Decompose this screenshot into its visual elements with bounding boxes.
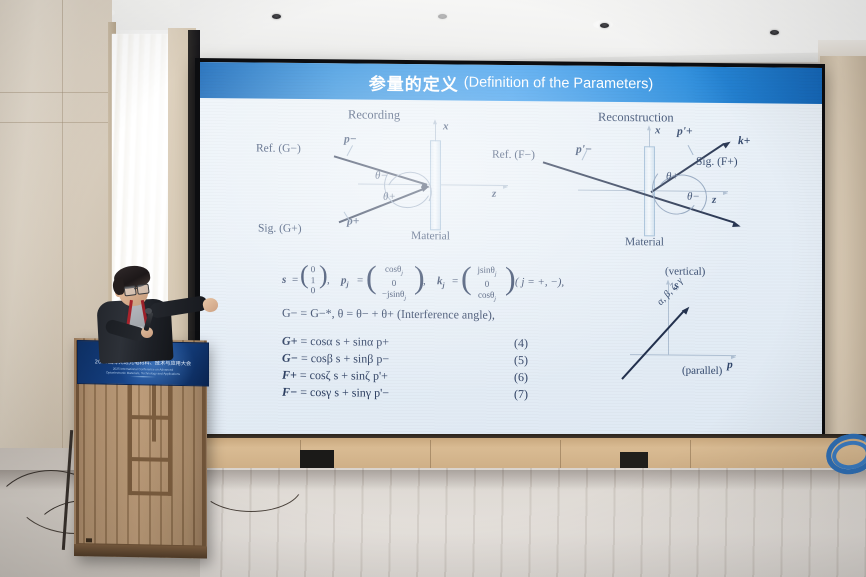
inset-vertical-label: (vertical): [665, 265, 705, 277]
recording-sig-label: Sig. (G+): [258, 223, 302, 235]
eq5-rhs: = cosβ s + sinβ p−: [301, 351, 389, 366]
reconstruction-x-label: x: [655, 124, 661, 136]
ceiling-spotlight-icon: [272, 14, 281, 19]
reconstruction-k-arrowhead: [722, 139, 732, 148]
p-vector-values: cosθj 0 −jsinθj: [373, 264, 415, 303]
reconstruction-sig-label: Sig. (F+): [696, 156, 738, 168]
wall-panel-seam: [0, 92, 112, 93]
k-equals: =: [452, 275, 458, 287]
inset-parallel-label: (parallel): [682, 365, 722, 377]
recording-ref-label: Ref. (G−): [256, 143, 301, 155]
reconstruction-x-arrowhead: [647, 125, 651, 130]
reconstruction-z-arrowhead: [723, 191, 728, 195]
slide-title-chinese: 参量的定义: [369, 69, 459, 95]
slide-body: Recording x z Material Ref. (G−) p− Sig.…: [200, 98, 822, 442]
s-value-1: 1: [306, 275, 320, 286]
recording-z-label: z: [492, 188, 496, 200]
eq6-rhs: = cosζ s + sinζ p'+: [300, 368, 388, 383]
s-value-0: 0: [306, 264, 320, 275]
recording-x-arrowhead: [433, 119, 437, 124]
eq7-rhs: = cosγ s + sinγ p'−: [300, 385, 389, 400]
p-value-2: −jsinθj: [373, 288, 415, 302]
podium-lattice-bar: [128, 457, 172, 462]
speaker-glasses: [124, 284, 150, 295]
k-value-2: cosθj: [468, 289, 506, 303]
s-equals: =: [292, 274, 298, 286]
reconstruction-z-label: z: [712, 194, 716, 206]
reconstruction-ref-arrowhead: [732, 221, 741, 229]
k-vector-symbol: kj: [437, 275, 445, 289]
eq4-lhs: G+: [282, 334, 298, 348]
slide-title-bar: 参量的定义 (Definition of the Parameters): [200, 62, 822, 104]
reconstruction-ref-label: Ref. (F−): [492, 149, 535, 161]
right-wood-wall: [820, 56, 866, 476]
ceiling-spotlight-icon: [770, 30, 779, 35]
eq4-number: (4): [514, 336, 528, 351]
relation-line: G− = G−*, θ = θ− + θ+ (Interference angl…: [282, 306, 495, 323]
projection-screen[interactable]: 参量的定义 (Definition of the Parameters) Rec…: [200, 62, 822, 442]
podium-lattice-bar: [128, 491, 172, 496]
inset-polarization-vector: [621, 311, 684, 380]
eq6-lhs: F+: [282, 368, 297, 382]
ceiling-spotlight-icon: [600, 23, 609, 28]
k-value-0: jsinθj: [468, 265, 506, 279]
p-value-0: cosθj: [373, 264, 415, 278]
eq4-rhs: = cosα s + sinα p+: [301, 334, 390, 349]
recording-z-arrowhead: [503, 185, 508, 189]
wall-panel-seam: [62, 0, 63, 470]
equation-row-7: F− = cosγ s + sinγ p'−: [282, 385, 389, 401]
eq5-number: (5): [514, 353, 528, 368]
recording-p-minus-tick: [347, 145, 354, 156]
eq6-number: (6): [514, 370, 528, 385]
slide-title-english: (Definition of the Parameters): [464, 75, 653, 93]
reconstruction-heading: Reconstruction: [598, 110, 674, 126]
equation-row-6: F+ = cosζ s + sinζ p'+: [282, 368, 388, 384]
reconstruction-material-label: Material: [625, 236, 664, 248]
recording-x-label: x: [443, 120, 449, 132]
inset-p-axis-label: p: [727, 359, 733, 371]
reconstruction-theta-minus-label: θ−: [687, 191, 700, 203]
s-value-2: 0: [306, 285, 320, 296]
podium-base: [74, 544, 207, 559]
p-value-1: 0: [373, 278, 415, 289]
eq7-number: (7): [514, 387, 528, 402]
microphone-head: [145, 308, 152, 314]
inset-angle-label: α, β, ζ, γ: [655, 276, 685, 308]
p-vector-symbol: pj: [341, 274, 349, 288]
reconstruction-k-plus-label: k+: [738, 135, 750, 147]
inset-polarization-arrowhead: [682, 305, 692, 315]
p-equals: =: [357, 275, 363, 287]
podium-plate-icon: [86, 538, 92, 542]
s-vector-values: 0 1 0: [306, 264, 320, 296]
equation-row-5: G− = cosβ s + sinβ p−: [282, 351, 389, 367]
p-comma: ,: [423, 275, 426, 287]
floor-outlet-recess: [300, 450, 334, 470]
podium-lattice-bar: [128, 415, 172, 420]
recording-heading: Recording: [348, 107, 400, 122]
reconstruction-p-prime-plus-tick: [688, 145, 694, 155]
recording-theta-plus-label: θ+: [383, 191, 396, 203]
reconstruction-p-prime-plus-label: p'+: [677, 126, 693, 138]
eq5-lhs: G−: [282, 351, 298, 365]
eq7-lhs: F−: [282, 385, 297, 399]
conference-room-photo: 参量的定义 (Definition of the Parameters) Rec…: [0, 0, 866, 577]
ceiling-spotlight-icon: [438, 14, 447, 19]
k-vector-values: jsinθj 0 cosθj: [468, 265, 506, 304]
s-comma: ,: [327, 274, 330, 286]
index-note: ( j = +, −),: [515, 276, 564, 288]
reconstruction-theta-plus-label: θ+: [666, 170, 679, 182]
wall-panel-seam: [0, 122, 112, 123]
recording-theta-minus-label: θ−: [375, 170, 388, 182]
equation-row-4: G+ = cosα s + sinα p+: [282, 334, 389, 350]
k-value-1: 0: [468, 279, 506, 290]
recording-p-minus-label: p−: [344, 133, 357, 145]
s-vector-symbol: s: [282, 274, 286, 286]
inset-p-axis: [630, 354, 736, 356]
recording-material-label: Material: [411, 230, 450, 242]
